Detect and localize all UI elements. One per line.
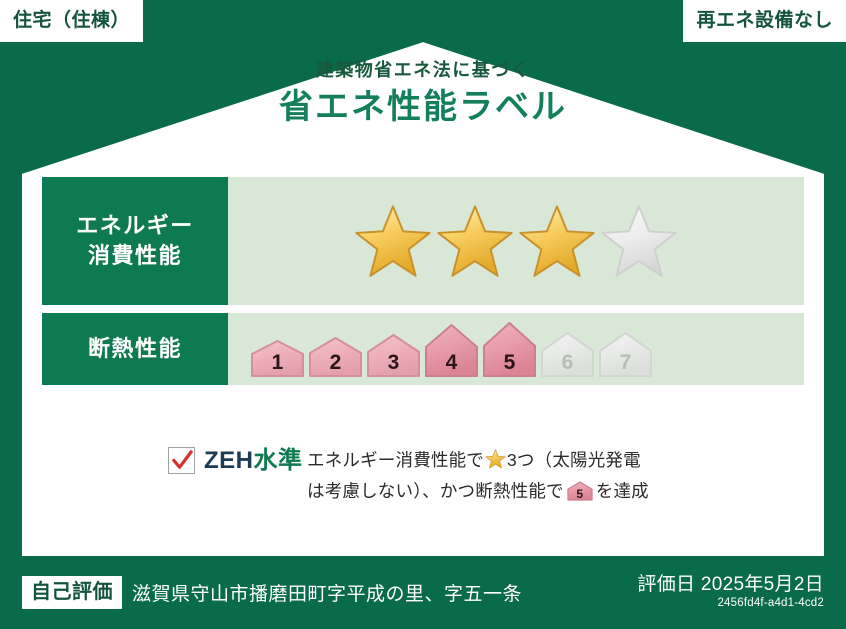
zeh-standard-indicator: ZEH水準 bbox=[42, 443, 307, 474]
building-type-badge: 住宅（住棟） bbox=[0, 0, 143, 42]
footer-right: 評価日 2025年5月2日 2456fd4f-a4d1-4cd2 bbox=[637, 574, 846, 612]
star-icon-empty-4 bbox=[600, 204, 678, 279]
house-badge-inline: 5 bbox=[567, 481, 593, 501]
row-insulation-label-line1: 断熱性能 bbox=[88, 334, 182, 364]
self-evaluation-badge: 自己評価 bbox=[22, 576, 122, 609]
house-badge-7-number: 7 bbox=[598, 352, 653, 373]
zeh-checkbox bbox=[168, 447, 195, 474]
house-badge-7: 7 bbox=[598, 331, 653, 378]
house-badge-2: 2 bbox=[308, 336, 363, 378]
row-energy-label-line2: 消費性能 bbox=[88, 241, 182, 271]
zeh-label-en: ZEH bbox=[204, 447, 254, 474]
house-badge-inline-number: 5 bbox=[567, 488, 593, 500]
label-subtitle: 建築物省エネ法に基づく bbox=[0, 60, 846, 82]
house-badge-2-number: 2 bbox=[308, 352, 363, 373]
star-icon-filled-1 bbox=[354, 204, 432, 279]
row-insulation-value: 1 2 3 4 bbox=[228, 313, 804, 385]
evaluation-date: 評価日 2025年5月2日 bbox=[637, 574, 824, 596]
zeh-desc-line2-a: は考慮しない）、かつ断熱性能で bbox=[307, 481, 564, 501]
footer-left: 自己評価 滋賀県守山市播磨田町字平成の里、字五一条 bbox=[0, 576, 637, 609]
zeh-standard-block: ZEH水準 エネルギー消費性能で3つ（太陽光発電 は考慮しない）、かつ断熱性能で… bbox=[42, 443, 804, 506]
row-energy-label: エネルギー 消費性能 bbox=[42, 177, 228, 305]
zeh-label-jp: 水準 bbox=[254, 447, 303, 474]
house-badge-1: 1 bbox=[250, 339, 305, 378]
check-icon bbox=[171, 449, 194, 472]
house-badge-5: 5 bbox=[482, 321, 537, 378]
star-rating bbox=[354, 204, 678, 279]
zeh-desc-line1-a: エネルギー消費性能で bbox=[307, 450, 484, 470]
energy-performance-label: 住宅（住棟） 再エネ設備なし 建築物省エネ法に基づく 省エネ性能ラベル エネルギ… bbox=[0, 0, 846, 629]
house-badge-3: 3 bbox=[366, 333, 421, 378]
row-energy-label-line1: エネルギー bbox=[76, 211, 194, 241]
label-title: 省エネ性能ラベル bbox=[0, 85, 846, 129]
renewable-energy-badge: 再エネ設備なし bbox=[683, 0, 846, 42]
zeh-label: ZEH水準 bbox=[204, 449, 303, 473]
property-address: 滋賀県守山市播磨田町字平成の里、字五一条 bbox=[132, 579, 522, 606]
star-icon-inline bbox=[485, 449, 506, 469]
house-badge-3-number: 3 bbox=[366, 352, 421, 373]
house-badge-6: 6 bbox=[540, 331, 595, 378]
house-badge-4-number: 4 bbox=[424, 352, 479, 373]
house-badge-6-number: 6 bbox=[540, 352, 595, 373]
zeh-desc-line2-b: を達成 bbox=[596, 481, 649, 501]
star-icon-filled-3 bbox=[518, 204, 596, 279]
evaluation-id: 2456fd4f-a4d1-4cd2 bbox=[637, 596, 824, 611]
star-icon-filled-2 bbox=[436, 204, 514, 279]
zeh-description: エネルギー消費性能で3つ（太陽光発電 は考慮しない）、かつ断熱性能で5を達成 bbox=[307, 443, 804, 506]
label-title-block: 建築物省エネ法に基づく 省エネ性能ラベル bbox=[0, 60, 846, 129]
row-insulation-performance: 断熱性能 bbox=[42, 313, 804, 385]
row-energy-performance: エネルギー 消費性能 bbox=[42, 177, 804, 305]
row-insulation-label: 断熱性能 bbox=[42, 313, 228, 385]
house-badge-5-number: 5 bbox=[482, 352, 537, 373]
row-energy-value bbox=[228, 177, 804, 305]
label-footer: 自己評価 滋賀県守山市播磨田町字平成の里、字五一条 評価日 2025年5月2日 … bbox=[0, 556, 846, 629]
zeh-desc-line1-b: 3つ（太陽光発電 bbox=[507, 450, 641, 470]
house-badge-4: 4 bbox=[424, 323, 479, 378]
house-badge-1-number: 1 bbox=[250, 352, 305, 373]
insulation-rating-scale: 1 2 3 4 bbox=[250, 313, 653, 385]
